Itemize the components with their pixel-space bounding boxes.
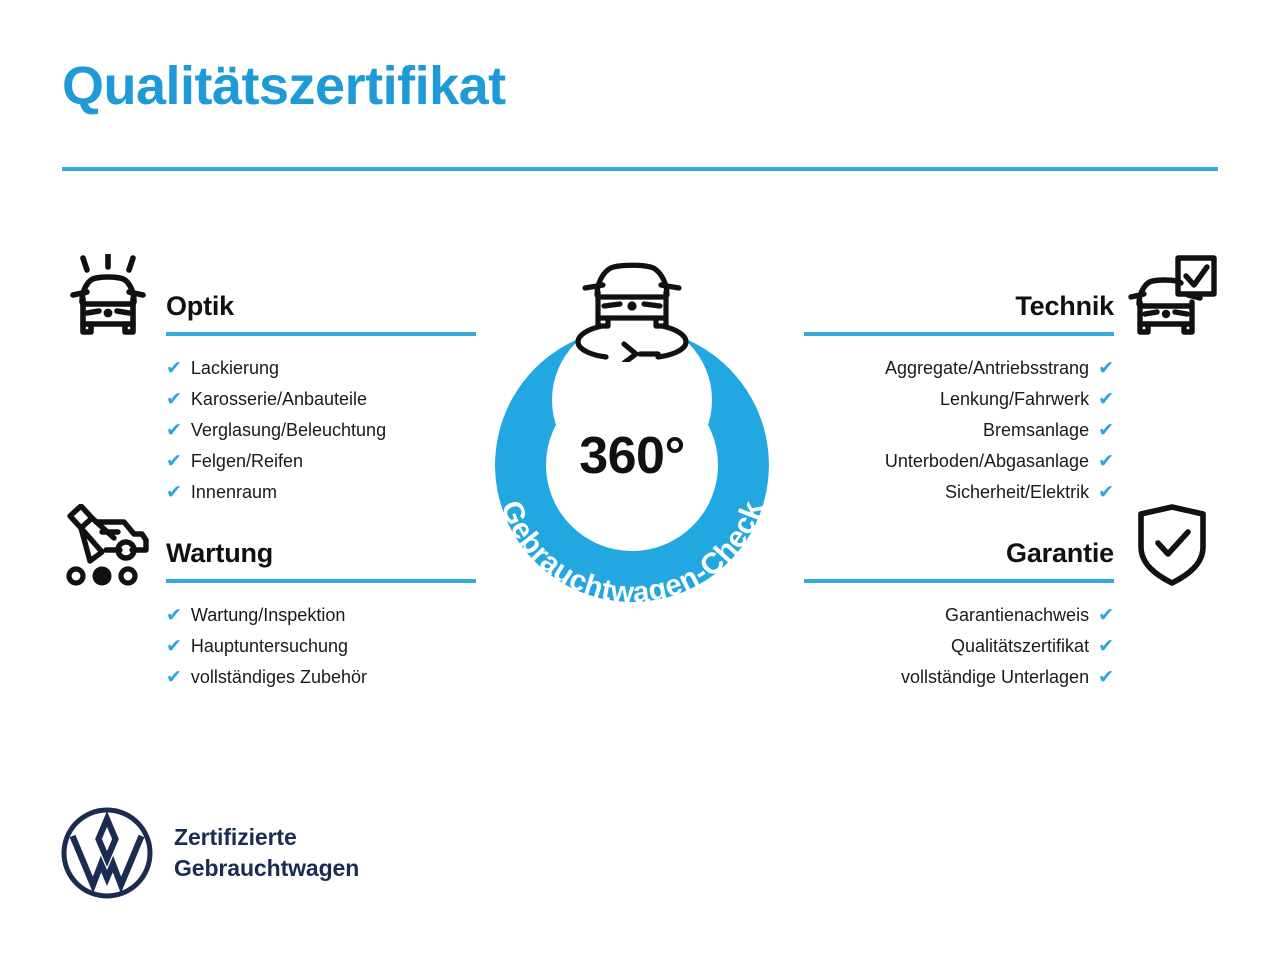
title-divider <box>62 167 1218 171</box>
list-item-label: Hauptuntersuchung <box>191 631 348 661</box>
check-icon: ✔ <box>1098 632 1114 662</box>
page-title: Qualitätszertifikat <box>62 58 506 115</box>
check-icon: ✔ <box>1098 663 1114 693</box>
check-icon: ✔ <box>166 385 182 415</box>
list-item-label: Qualitätszertifikat <box>951 631 1089 661</box>
car-pencil-service-icon <box>60 499 156 591</box>
list-item: ✔vollständiges Zubehör <box>166 662 540 693</box>
section-optik-divider <box>166 332 476 336</box>
list-item-label: Wartung/Inspektion <box>191 600 345 630</box>
list-item-label: Bremsanlage <box>983 415 1089 445</box>
section-garantie-header: Garantie <box>740 499 1220 595</box>
list-item-label: Lackierung <box>191 353 279 383</box>
car-checkbox-icon <box>1124 252 1220 344</box>
section-technik-header: Technik <box>740 252 1220 348</box>
section-optik-title: Optik <box>166 291 234 322</box>
badge-center-label: 360° <box>462 426 802 486</box>
check-icon: ✔ <box>166 354 182 384</box>
section-wartung-title: Wartung <box>166 538 273 569</box>
list-item: ✔Hauptuntersuchung <box>166 631 540 662</box>
list-item-label: vollständiges Zubehör <box>191 662 367 692</box>
list-item-label: Garantienachweis <box>945 600 1089 630</box>
section-technik-divider <box>804 332 1114 336</box>
section-wartung-divider <box>166 579 476 583</box>
list-item-label: Felgen/Reifen <box>191 446 303 476</box>
check-icon: ✔ <box>166 601 182 631</box>
check-icon: ✔ <box>166 632 182 662</box>
list-item: vollständige Unterlagen✔ <box>740 662 1114 693</box>
vw-wordmark-text: Zertifizierte Gebrauchtwagen <box>174 822 359 883</box>
car-rotate-360-icon <box>566 250 698 362</box>
list-item-label: Unterboden/Abgasanlage <box>885 446 1089 476</box>
list-item-label: Verglasung/Beleuchtung <box>191 415 386 445</box>
gebrauchtwagen-check-badge: Gebrauchtwagen-Check 360° <box>462 250 802 630</box>
section-technik-title: Technik <box>1015 291 1114 322</box>
section-garantie: Garantie Garantienachweis✔ Qualitätszert… <box>740 499 1220 693</box>
check-icon: ✔ <box>1098 354 1114 384</box>
shield-check-icon <box>1124 499 1220 591</box>
list-item-label: vollständige Unterlagen <box>901 662 1089 692</box>
list-item: Qualitätszertifikat✔ <box>740 631 1114 662</box>
car-shine-icon <box>60 252 156 344</box>
check-icon: ✔ <box>166 663 182 693</box>
list-item-label: Lenkung/Fahrwerk <box>940 384 1089 414</box>
check-icon: ✔ <box>1098 416 1114 446</box>
check-icon: ✔ <box>1098 447 1114 477</box>
volkswagen-logo <box>60 806 154 900</box>
section-technik: Technik Aggregate/Antriebsstrang✔ Lenkun… <box>740 252 1220 508</box>
check-icon: ✔ <box>1098 385 1114 415</box>
section-garantie-title: Garantie <box>1006 538 1114 569</box>
check-icon: ✔ <box>166 416 182 446</box>
check-icon: ✔ <box>166 447 182 477</box>
section-garantie-divider <box>804 579 1114 583</box>
list-item-label: Aggregate/Antriebsstrang <box>885 353 1089 383</box>
list-item-label: Karosserie/Anbauteile <box>191 384 367 414</box>
check-icon: ✔ <box>1098 601 1114 631</box>
vw-certified-lockup: Zertifizierte Gebrauchtwagen <box>60 806 359 900</box>
